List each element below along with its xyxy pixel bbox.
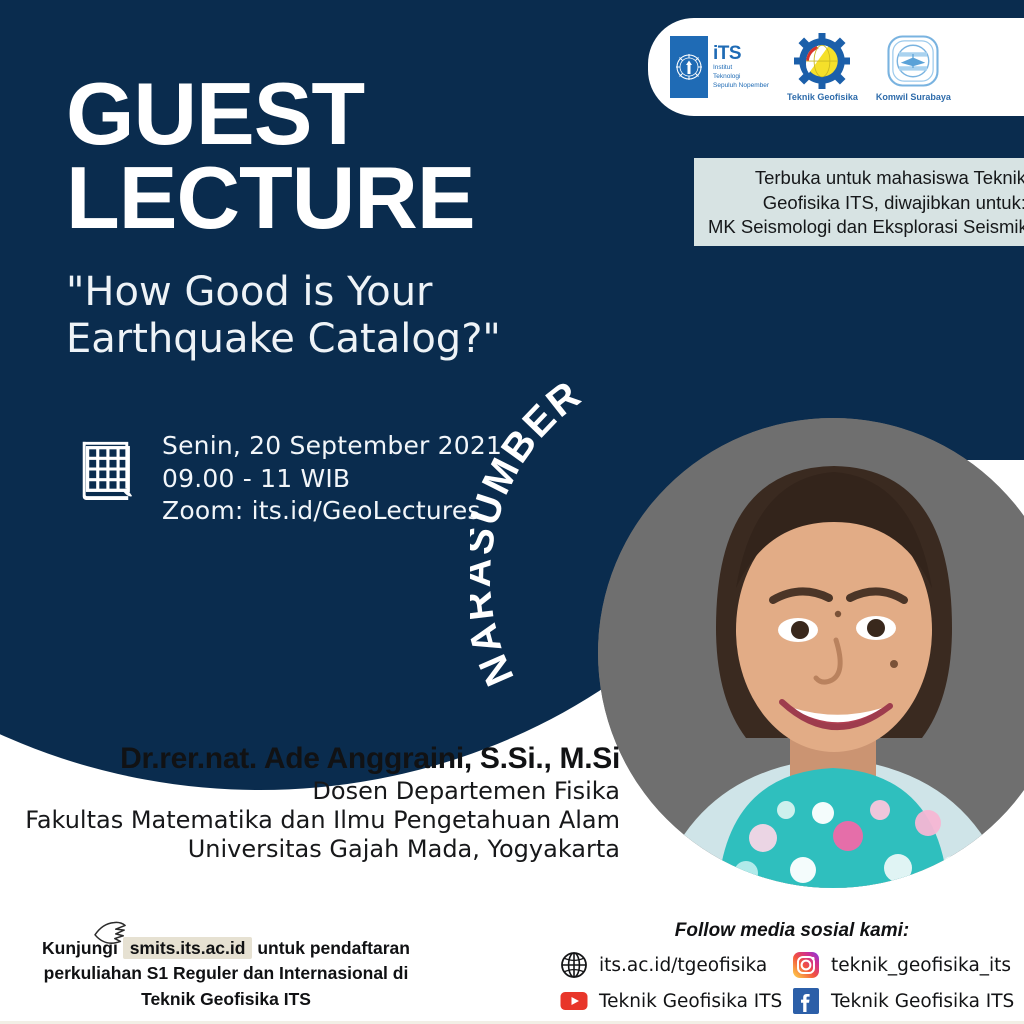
globe-icon [560,951,588,979]
komwil-seal-icon [885,33,941,89]
its-logo: iTS Institut Teknologi Sepuluh Nopember [670,36,769,98]
title-line-2: LECTURE [66,156,501,240]
page-title: GUEST LECTURE "How Good is Your Earthqua… [66,72,501,363]
social-handle-facebook: Teknik Geofisika ITS [831,991,1014,1012]
its-emblem-icon [670,36,708,98]
social-handle-instagram: teknik_geofisika_its [831,955,1011,976]
komwil-surabaya-logo: Komwil Surabaya [876,33,951,102]
komwil-surabaya-caption: Komwil Surabaya [876,92,951,102]
title-line-1: GUEST [66,72,501,156]
its-subtitle-1: Institut [713,64,769,72]
notice-line-3: MK Seismologi dan Eksplorasi Seismik [708,215,1024,240]
speaker-info: Dr.rer.nat. Ade Anggraini, S.Si., M.Si D… [0,742,628,864]
schedule-date: Senin, 20 September 2021 [162,430,502,463]
its-gear-icon [674,52,704,82]
registration-line-2: perkuliahan S1 Reguler dan Internasional… [0,961,452,986]
social-item-instagram[interactable]: teknik_geofisika_its [792,951,1024,979]
geofisika-gear-globe-icon [794,33,850,89]
teknik-geofisika-logo: Teknik Geofisika [787,33,858,102]
registration-suffix: untuk pendaftaran [257,938,410,958]
its-subtitle-2: Teknologi [713,73,769,81]
its-wordmark: iTS [713,44,769,63]
poster-canvas: iTS Institut Teknologi Sepuluh Nopember [0,0,1024,1024]
notice-line-1: Terbuka untuk mahasiswa Teknik [708,166,1024,191]
subtitle-line-2: Earthquake Catalog?" [66,316,501,363]
speaker-name: Dr.rer.nat. Ade Anggraini, S.Si., M.Si [0,742,620,777]
speaker-role: Dosen Departemen Fisika [0,777,620,806]
notice-line-2: Geofisika ITS, diwajibkan untuk: [708,191,1024,216]
social-item-facebook[interactable]: Teknik Geofisika ITS [792,987,1024,1015]
eligibility-notice: Terbuka untuk mahasiswa Teknik Geofisika… [694,158,1024,246]
teknik-geofisika-caption: Teknik Geofisika [787,92,858,102]
social-handle-youtube: Teknik Geofisika ITS [599,991,782,1012]
registration-line-3: Teknik Geofisika ITS [0,987,452,1012]
social-handle-website: its.ac.id/tgeofisika [599,955,767,976]
registration-link[interactable]: smits.its.ac.id [123,937,253,959]
schedule-block: Senin, 20 September 2021 09.00 - 11 WIB … [74,430,502,528]
logo-bar: iTS Institut Teknologi Sepuluh Nopember [648,18,1024,116]
pointing-hand-icon [92,916,130,948]
its-subtitle-3: Sepuluh Nopember [713,82,769,90]
instagram-icon [792,951,820,979]
schedule-time: 09.00 - 11 WIB [162,463,502,496]
registration-footer: Kunjungi smits.its.ac.id untuk pendaftar… [0,936,452,1012]
social-item-website[interactable]: its.ac.id/tgeofisika [560,951,792,979]
social-item-youtube[interactable]: Teknik Geofisika ITS [560,987,792,1015]
subtitle-line-1: "How Good is Your [66,269,501,316]
speaker-faculty: Fakultas Matematika dan Ilmu Pengetahuan… [0,806,620,835]
calendar-icon [74,436,136,502]
facebook-icon [792,987,820,1015]
schedule-platform: Zoom: its.id/GeoLectures [162,495,502,528]
follow-heading: Follow media sosial kami: [560,920,1024,942]
social-footer: Follow media sosial kami: its.ac.id/tgeo… [560,920,1024,1015]
speaker-university: Universitas Gajah Mada, Yogyakarta [0,835,620,864]
youtube-icon [560,987,588,1015]
